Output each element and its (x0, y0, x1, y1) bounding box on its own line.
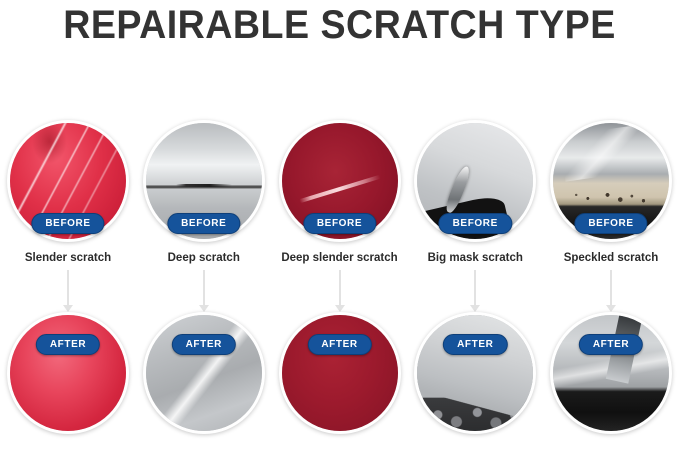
arrow-head (606, 305, 616, 312)
after-badge: AFTER (36, 334, 100, 355)
before-photo-slender-scratch[interactable]: BEFORE (7, 120, 129, 242)
before-photo-deep-scratch[interactable]: BEFORE (143, 120, 265, 242)
scratch-type-label: Slender scratch (25, 251, 111, 265)
scratch-column-speckled-scratch: BEFORE Speckled scratch AFTER (547, 120, 675, 461)
arrow-head (199, 305, 209, 312)
after-circle (7, 312, 129, 434)
scratch-type-label: Speckled scratch (564, 251, 659, 265)
down-arrow-icon (197, 270, 211, 312)
scratch-type-grid: BEFORE Slender scratch AFTER BEFORE Deep… (0, 120, 679, 461)
down-arrow-icon (61, 270, 75, 312)
before-badge: BEFORE (574, 213, 647, 234)
after-photo-slender-scratch[interactable]: AFTER (7, 312, 129, 434)
before-photo-big-mask-scratch[interactable]: BEFORE (414, 120, 536, 242)
down-arrow-icon (333, 270, 347, 312)
scratch-type-label: Big mask scratch (428, 251, 523, 265)
before-photo-speckled-scratch[interactable]: BEFORE (550, 120, 672, 242)
photo-crimson-clean-panel (282, 315, 398, 431)
scratch-type-label: Deep scratch (168, 251, 240, 265)
before-photo-deep-slender-scratch[interactable]: BEFORE (279, 120, 401, 242)
scratch-column-big-mask-scratch: BEFORE Big mask scratch AFTER (411, 120, 539, 461)
down-arrow-icon (468, 270, 482, 312)
after-circle (143, 312, 265, 434)
after-badge: AFTER (307, 334, 371, 355)
before-badge: BEFORE (303, 213, 376, 234)
after-photo-speckled-scratch[interactable]: AFTER (550, 312, 672, 434)
scratch-column-deep-scratch: BEFORE Deep scratch AFTER (140, 120, 268, 461)
after-circle (550, 312, 672, 434)
after-photo-deep-slender-scratch[interactable]: AFTER (279, 312, 401, 434)
before-badge: BEFORE (167, 213, 240, 234)
before-badge: BEFORE (31, 213, 104, 234)
arrow-head (63, 305, 73, 312)
arrow-shaft (339, 270, 341, 306)
arrow-head (335, 305, 345, 312)
scratch-column-slender-scratch: BEFORE Slender scratch AFTER (4, 120, 132, 461)
after-badge: AFTER (443, 334, 507, 355)
photo-red-clean-panel (10, 315, 126, 431)
photo-silver-clean-panel (146, 315, 262, 431)
photo-silver-fender-clean (553, 315, 669, 431)
down-arrow-icon (604, 270, 618, 312)
after-circle (414, 312, 536, 434)
arrow-shaft (203, 270, 205, 306)
scratch-column-deep-slender-scratch: BEFORE Deep slender scratch AFTER (276, 120, 404, 461)
photo-grey-clean-panel (417, 315, 533, 431)
after-photo-big-mask-scratch[interactable]: AFTER (414, 312, 536, 434)
before-badge: BEFORE (439, 213, 512, 234)
arrow-shaft (610, 270, 612, 306)
scratch-type-label: Deep slender scratch (281, 251, 397, 265)
arrow-head (470, 305, 480, 312)
after-badge: AFTER (579, 334, 643, 355)
arrow-shaft (67, 270, 69, 306)
after-circle (279, 312, 401, 434)
after-photo-deep-scratch[interactable]: AFTER (143, 312, 265, 434)
page-title: REPAIRABLE SCRATCH TYPE (20, 2, 658, 48)
arrow-shaft (474, 270, 476, 306)
after-badge: AFTER (172, 334, 236, 355)
